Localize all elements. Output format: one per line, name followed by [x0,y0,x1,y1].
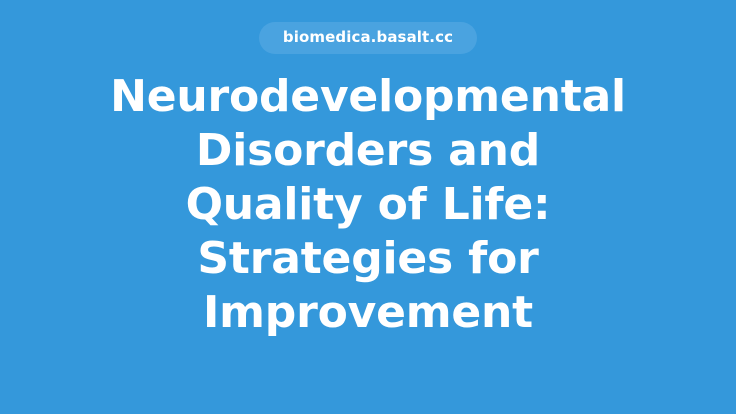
title-line-5: Improvement [68,286,668,340]
title-line-4: Strategies for [68,232,668,286]
title-line-3: Quality of Life: [68,178,668,232]
title-block: Neurodevelopmental Disorders and Quality… [68,70,668,340]
badge-row: biomedica.basalt.cc [0,22,736,54]
site-domain-badge[interactable]: biomedica.basalt.cc [259,22,477,54]
title-line-2: Disorders and [68,124,668,178]
page-title: Neurodevelopmental Disorders and Quality… [68,70,668,340]
title-line-1: Neurodevelopmental [68,70,668,124]
poster-canvas: biomedica.basalt.cc Neurodevelopmental D… [0,0,736,414]
